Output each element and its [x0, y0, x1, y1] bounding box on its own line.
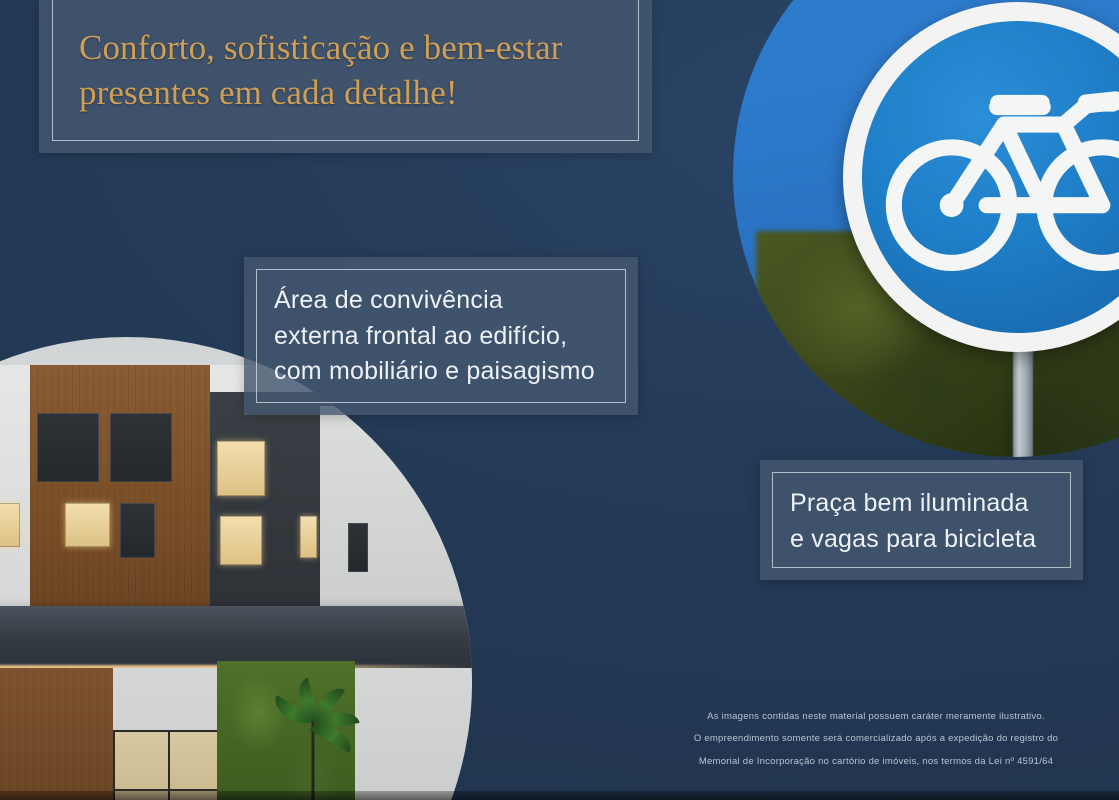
window: [220, 516, 261, 564]
facade-stone-panel: [210, 392, 334, 627]
callout-box-convivencia: Área de convivência externa frontal ao e…: [244, 257, 638, 415]
balcony-slab: [0, 606, 472, 668]
callout-line-2: e vagas para bicicleta: [790, 522, 1063, 558]
headline-text: Conforto, sofisticação e bem-estar prese…: [39, 0, 652, 116]
legal-line-2: O empreendimento somente será comerciali…: [660, 728, 1092, 750]
headline-line-1: Conforto, sofisticação e bem-estar: [79, 26, 618, 71]
bike-sign-photo: [733, 0, 1119, 457]
glass-entrance: [113, 730, 223, 800]
legal-disclaimer: As imagens contidas neste material possu…: [660, 706, 1092, 773]
legal-line-3: Memorial de Incorporação no cartório de …: [660, 751, 1092, 773]
callout-line-3: com mobiliário e paisagismo: [274, 354, 614, 390]
bottom-shadow-band: [0, 791, 1119, 800]
bicycle-sign-disc: [843, 2, 1119, 352]
callout-convivencia-text: Área de convivência externa frontal ao e…: [244, 257, 638, 390]
palm-tree: [286, 717, 340, 800]
headline-callout-box: Conforto, sofisticação e bem-estar prese…: [39, 0, 652, 153]
window: [300, 516, 318, 557]
window: [110, 413, 172, 482]
window: [37, 413, 99, 482]
facade-wood-upper: [30, 365, 209, 620]
window: [0, 503, 20, 548]
legal-line-1: As imagens contidas neste material possu…: [660, 706, 1092, 728]
headline-line-2: presentes em cada detalhe!: [79, 71, 618, 116]
callout-box-praca: Praça bem iluminada e vagas para bicicle…: [760, 460, 1083, 580]
window: [348, 523, 369, 571]
callout-praca-text: Praça bem iluminada e vagas para bicicle…: [760, 460, 1083, 557]
callout-line-2: externa frontal ao edifício,: [274, 319, 614, 355]
callout-line-1: Área de convivência: [274, 283, 614, 319]
marketing-slide: Conforto, sofisticação e bem-estar prese…: [0, 0, 1119, 800]
window: [120, 503, 155, 558]
callout-line-1: Praça bem iluminada: [790, 486, 1063, 522]
window: [65, 503, 110, 548]
bicycle-icon: [843, 2, 1119, 352]
window: [217, 441, 265, 496]
wood-cladding-panel: [0, 668, 113, 800]
